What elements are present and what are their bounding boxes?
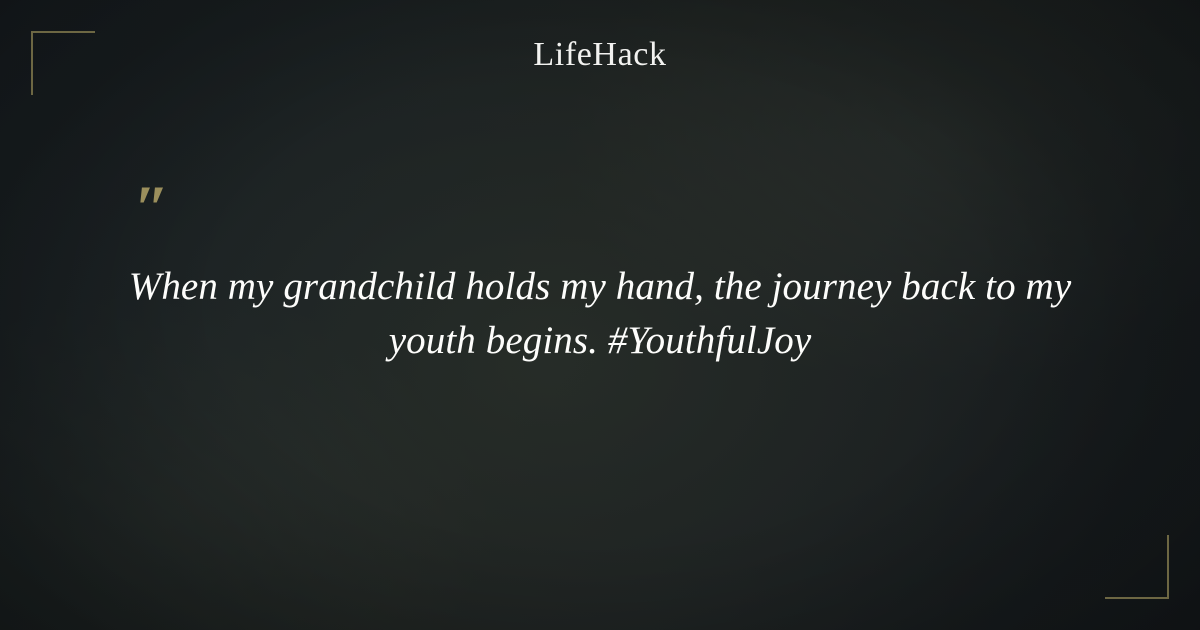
quote-card: LifeHack ″ When my grandchild holds my h… [0,0,1200,630]
quote-text: When my grandchild holds my hand, the jo… [95,260,1105,368]
brand-logo: LifeHack [0,38,1200,72]
quotation-mark-icon: ″ [134,186,1200,238]
corner-bracket-bottom-right-icon [1105,535,1169,599]
quote-block: ″ When my grandchild holds my hand, the … [0,186,1200,368]
